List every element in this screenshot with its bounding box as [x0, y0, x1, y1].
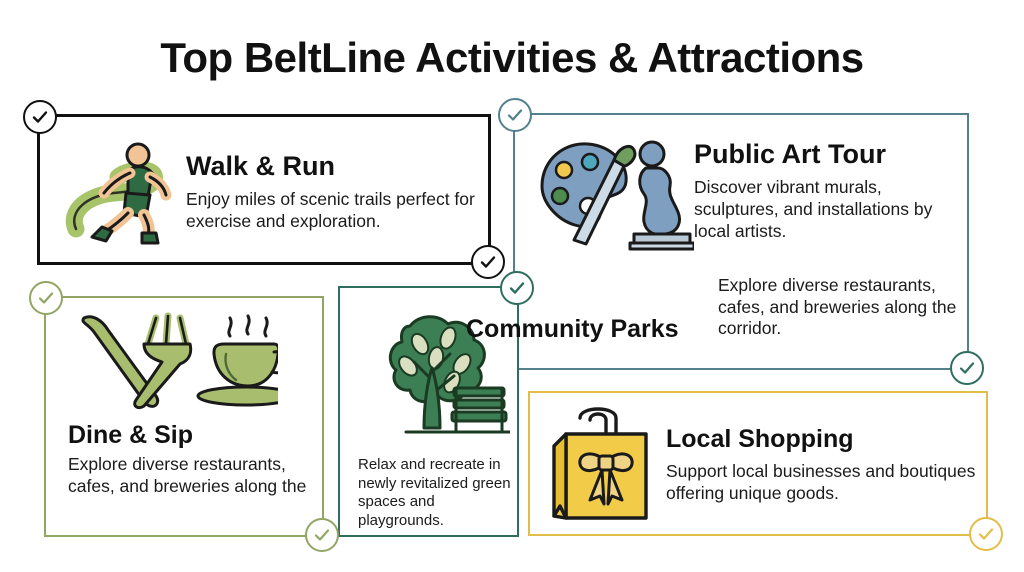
check-circle-icon[interactable] [23, 100, 57, 134]
card-community-parks-description: Relax and recreate in newly revitalized … [358, 456, 518, 530]
card-public-art-tour-content: Public Art Tour Discover vibrant murals,… [534, 117, 957, 265]
card-public-art-tour-title: Public Art Tour [694, 140, 957, 168]
check-circle-icon[interactable] [950, 351, 984, 385]
art-palette-statue-icon [534, 130, 694, 252]
card-public-art-tour-description: Discover vibrant murals, sculptures, and… [694, 177, 957, 242]
runner-icon [62, 137, 186, 249]
card-local-shopping-description: Support local businesses and boutiques o… [666, 461, 976, 504]
card-walk-run-title: Walk & Run [186, 152, 476, 180]
card-local-shopping-title: Local Shopping [666, 426, 976, 452]
check-circle-icon[interactable] [498, 98, 532, 132]
check-circle-icon[interactable] [29, 281, 63, 315]
check-circle-icon[interactable] [305, 518, 339, 552]
card-local-shopping-text: Local Shopping Support local businesses … [666, 426, 976, 505]
check-circle-icon[interactable] [500, 271, 534, 305]
card-local-shopping-content: Local Shopping Support local businesses … [546, 393, 976, 538]
card-walk-run-content: Walk & Run Enjoy miles of scenic trails … [62, 117, 476, 268]
shopping-bag-icon [546, 406, 666, 526]
card-community-parks[interactable]: Community Parks Relax and recreate in ne… [338, 286, 519, 537]
card-dine-sip-title: Dine & Sip [68, 422, 312, 448]
check-circle-icon[interactable] [969, 517, 1003, 551]
card-walk-run-description: Enjoy miles of scenic trails perfect for… [186, 189, 476, 232]
card-dine-sip-description: Explore diverse restaurants, cafes, and … [68, 454, 312, 497]
card-dine-sip-text: Dine & Sip Explore diverse restaurants, … [68, 422, 312, 498]
card-walk-run[interactable]: Walk & Run Enjoy miles of scenic trails … [37, 114, 491, 265]
card-walk-run-text: Walk & Run Enjoy miles of scenic trails … [186, 152, 476, 233]
page-title: Top BeltLine Activities & Attractions [0, 34, 1024, 82]
card-community-parks-title: Community Parks [466, 316, 826, 342]
card-local-shopping[interactable]: Local Shopping Support local businesses … [528, 391, 988, 536]
infographic-canvas: Top BeltLine Activities & Attractions [0, 0, 1024, 572]
card-public-art-tour-text: Public Art Tour Discover vibrant murals,… [694, 140, 957, 242]
card-dine-sip[interactable]: Dine & Sip Explore diverse restaurants, … [44, 296, 324, 537]
check-circle-icon[interactable] [471, 245, 505, 279]
cutlery-coffee-icon [68, 312, 278, 412]
